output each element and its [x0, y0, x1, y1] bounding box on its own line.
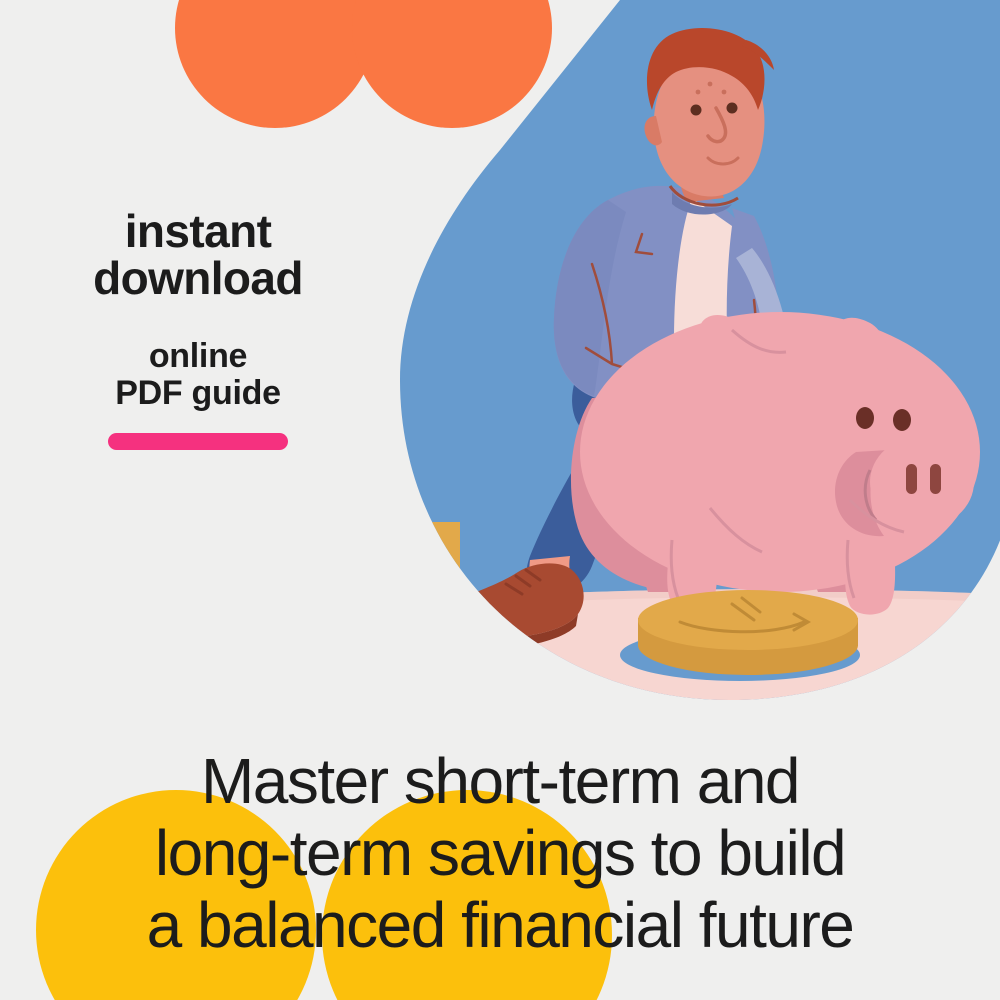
illustration-panel	[380, 0, 1000, 720]
eye-left	[691, 105, 702, 116]
poster-canvas: instant download online PDF guide Master…	[0, 0, 1000, 1000]
gold-coin	[638, 590, 858, 675]
freckle	[696, 90, 701, 95]
coin-face	[638, 590, 858, 650]
orange-circle-decoration	[175, 0, 375, 128]
piggy-leg-front	[845, 546, 895, 615]
freckle	[708, 82, 713, 87]
piggy-snout	[870, 436, 974, 528]
pink-accent-rule	[108, 433, 288, 450]
piggy-nostril-right	[930, 464, 941, 494]
piggy-eye-right	[893, 409, 911, 431]
man-on-piggy-bank-illustration	[380, 0, 1000, 720]
piggy-eye-left	[856, 407, 874, 429]
eye-right	[727, 103, 738, 114]
piggy-nostril-left	[906, 464, 917, 494]
page-title: Master short-term and long-term savings …	[0, 745, 1000, 961]
eyebrow-copy-block: instant download online PDF guide	[0, 208, 396, 412]
freckle	[722, 90, 727, 95]
instant-download-label: instant download	[0, 208, 396, 302]
background-yellow-block	[410, 522, 460, 602]
online-pdf-guide-label: online PDF guide	[0, 338, 396, 412]
gold-ground-accent	[380, 682, 680, 720]
